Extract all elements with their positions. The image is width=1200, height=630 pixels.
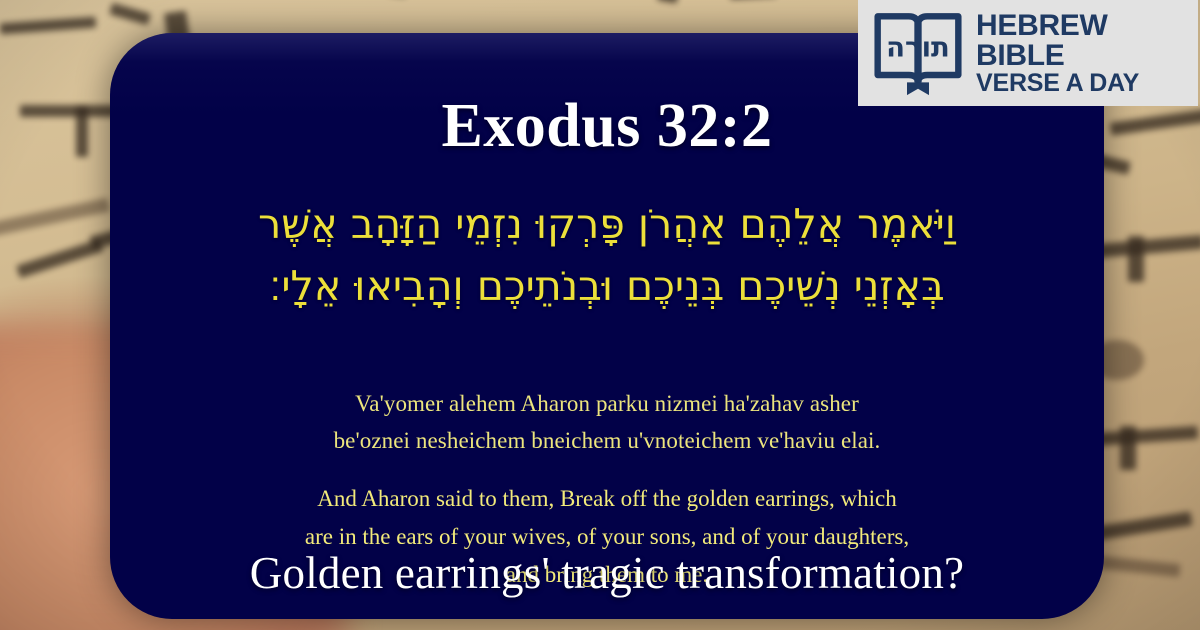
brand-line-1: HEBREW (976, 11, 1139, 41)
svg-text:תורה: תורה (886, 32, 950, 64)
hebrew-line-2: בְּאָזְנֵי נְשֵׁיכֶם בְּנֵיכֶם וּבְנֹתֵי… (138, 255, 1076, 317)
verse-graphic-canvas: Exodus 32:2 וַיֹּאמֶר אֲלֵהֶם אַהֲרֹן פָ… (0, 0, 1200, 630)
brand-logo-badge[interactable]: תורה HEBREW BIBLE VERSE A DAY (858, 0, 1198, 106)
transliteration-text: Va'yomer alehem Aharon parku nizmei ha'z… (170, 385, 1044, 460)
open-book-icon: תורה (872, 9, 964, 97)
transliteration-line-1: Va'yomer alehem Aharon parku nizmei ha'z… (170, 385, 1044, 422)
brand-wordmark: HEBREW BIBLE VERSE A DAY (976, 11, 1139, 96)
transliteration-line-2: be'oznei nesheichem bneichem u'vnoteiche… (170, 422, 1044, 459)
brand-line-2: BIBLE (976, 41, 1139, 71)
hebrew-line-1: וַיֹּאמֶר אֲלֵהֶם אַהֲרֹן פָּרְקוּ נִזְמ… (138, 193, 1076, 255)
verse-card: Exodus 32:2 וַיֹּאמֶר אֲלֵהֶם אַהֲרֹן פָ… (110, 33, 1104, 619)
translation-line-1: And Aharon said to them, Break off the g… (160, 480, 1054, 518)
brand-line-3: VERSE A DAY (976, 71, 1139, 96)
hebrew-verse-text: וַיֹּאמֶר אֲלֵהֶם אַהֲרֹן פָּרְקוּ נִזְמ… (138, 193, 1076, 318)
caption-headline: Golden earrings' tragic transformation? (110, 550, 1104, 597)
